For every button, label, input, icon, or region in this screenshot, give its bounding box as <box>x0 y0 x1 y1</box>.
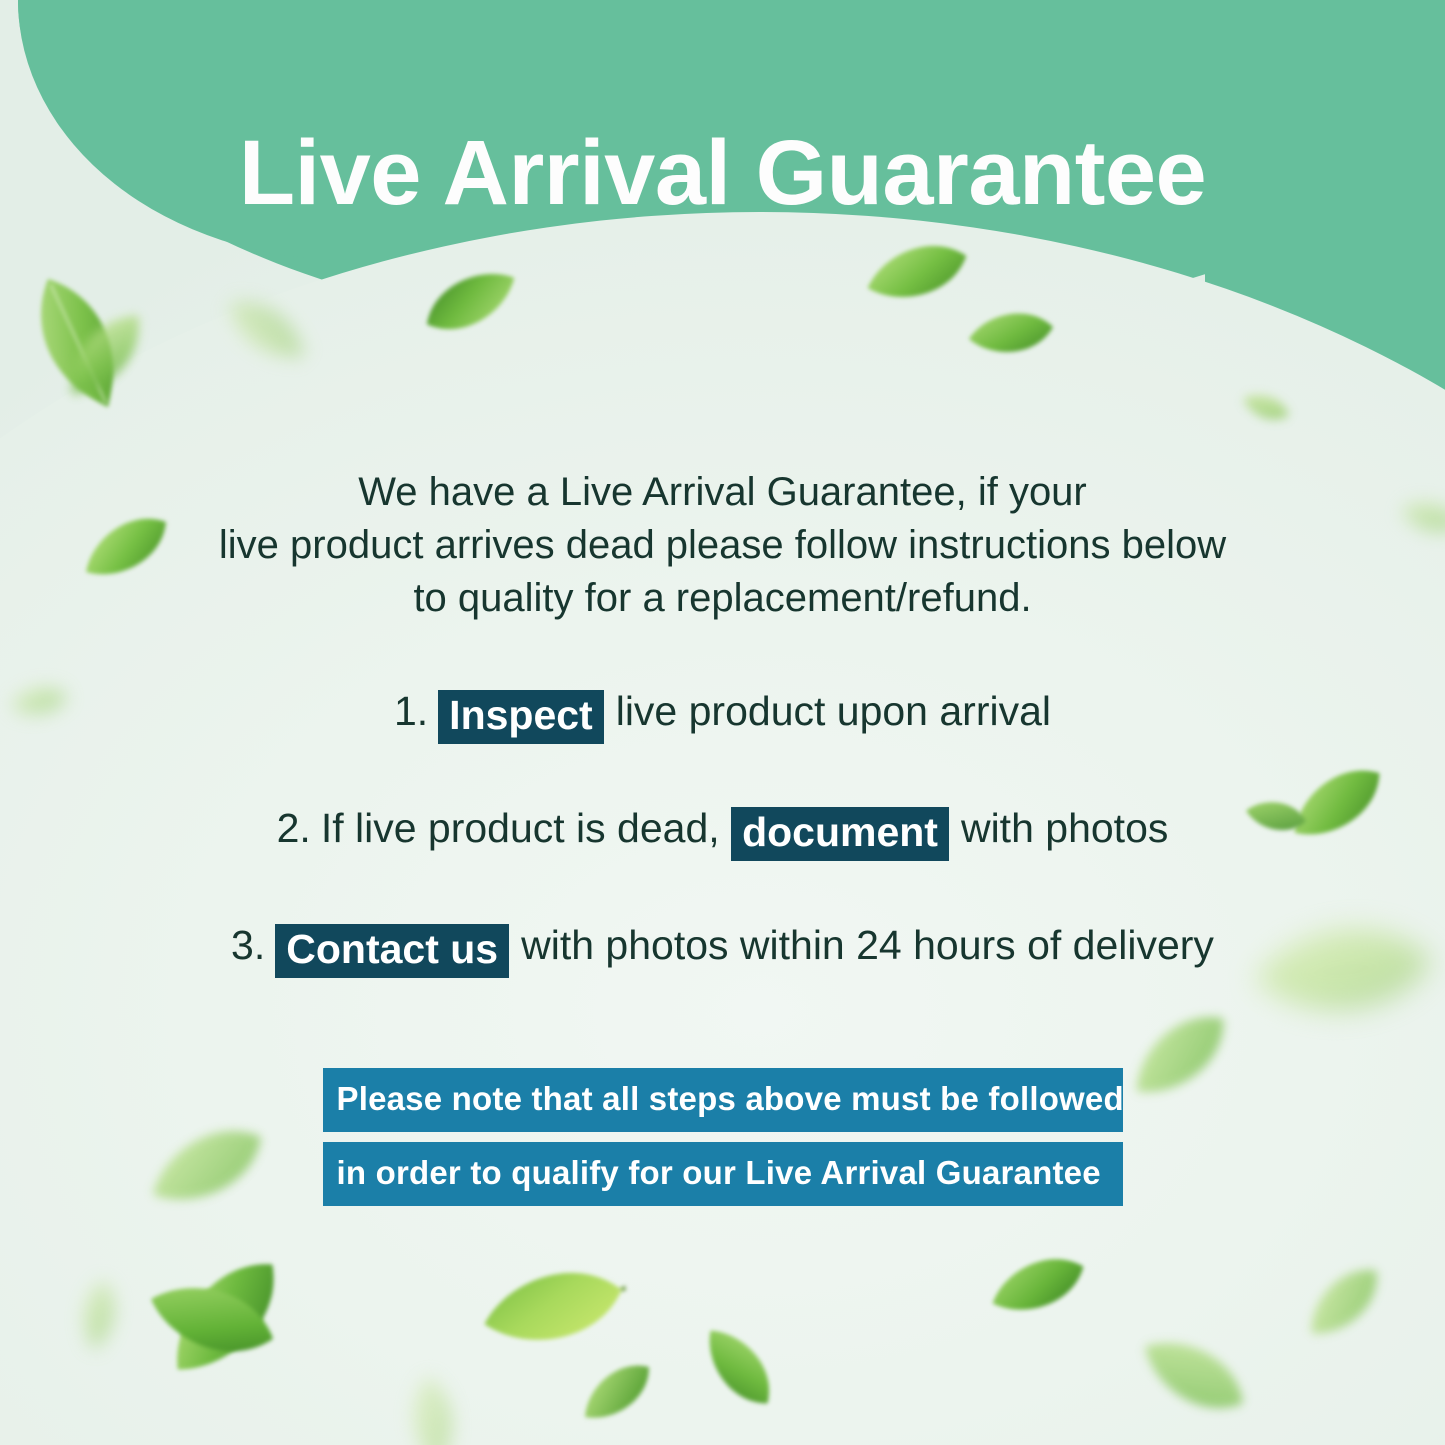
step-text-before: If live product is dead, <box>321 805 720 851</box>
intro-line-2: live product arrives dead please follow … <box>0 519 1445 572</box>
step-number: 3. <box>231 922 265 968</box>
step-highlight-contact-us: Contact us <box>275 924 509 978</box>
note-line-1: Please note that all steps above must be… <box>323 1068 1123 1132</box>
note-line-2: in order to qualify for our Live Arrival… <box>323 1142 1123 1206</box>
step-text: with photos <box>961 805 1168 851</box>
intro-line-1: We have a Live Arrival Guarantee, if you… <box>0 466 1445 519</box>
intro-line-3: to quality for a replacement/refund. <box>0 572 1445 625</box>
step-text: with photos within 24 hours of delivery <box>521 922 1214 968</box>
step-item-2: 2.If live product is dead, documentwith … <box>0 803 1445 857</box>
intro-paragraph: We have a Live Arrival Guarantee, if you… <box>0 466 1445 624</box>
step-text: live product upon arrival <box>616 688 1051 734</box>
step-number: 1. <box>394 688 428 734</box>
step-number: 2. <box>277 805 311 851</box>
page-title: Live Arrival Guarantee <box>0 125 1445 222</box>
footer-note: Please note that all steps above must be… <box>0 1068 1445 1216</box>
step-item-1: 1.Inspectlive product upon arrival <box>0 686 1445 740</box>
step-highlight-inspect: Inspect <box>438 690 604 744</box>
steps-list: 1.Inspectlive product upon arrival 2.If … <box>0 686 1445 1037</box>
step-highlight-document: document <box>731 807 949 861</box>
live-arrival-guarantee-poster: Live Arrival Guarantee We have a Live Ar… <box>0 0 1445 1445</box>
step-item-3: 3.Contact uswith photos within 24 hours … <box>0 920 1445 974</box>
